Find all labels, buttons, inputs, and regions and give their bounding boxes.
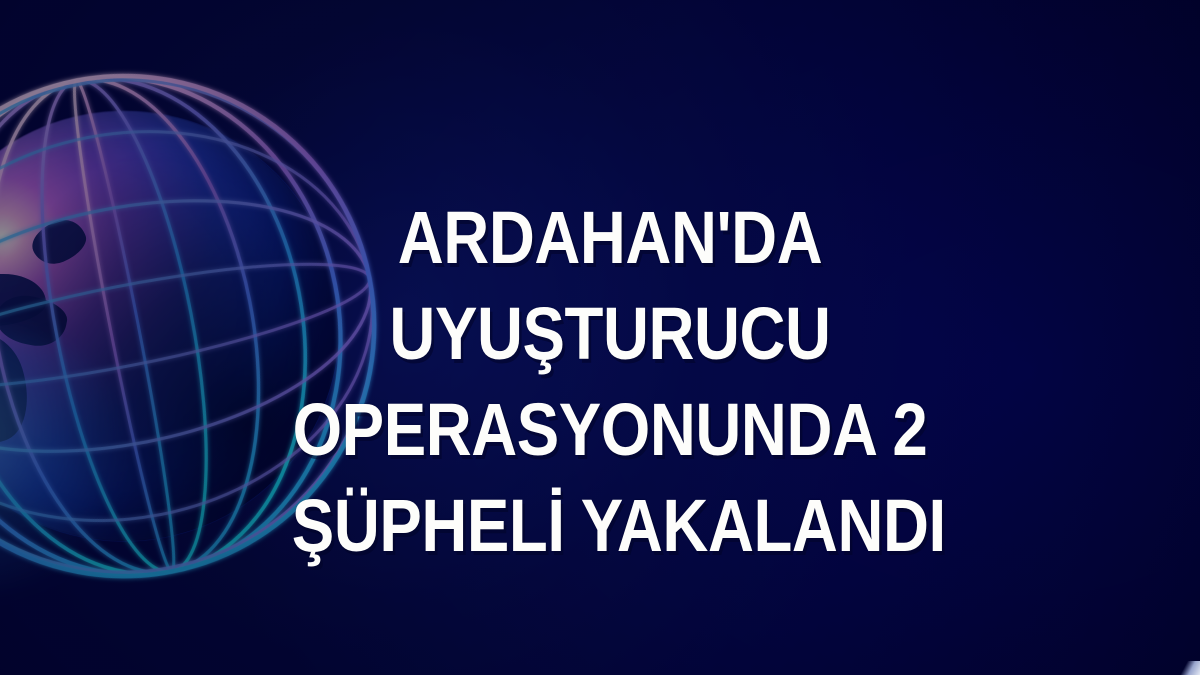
news-banner: ARDAHAN'DA UYUŞTURUCU OPERASYONUNDA 2 ŞÜ…: [0, 0, 1200, 675]
corner-artifact: [1166, 661, 1200, 675]
background-vignette: [0, 0, 1200, 675]
